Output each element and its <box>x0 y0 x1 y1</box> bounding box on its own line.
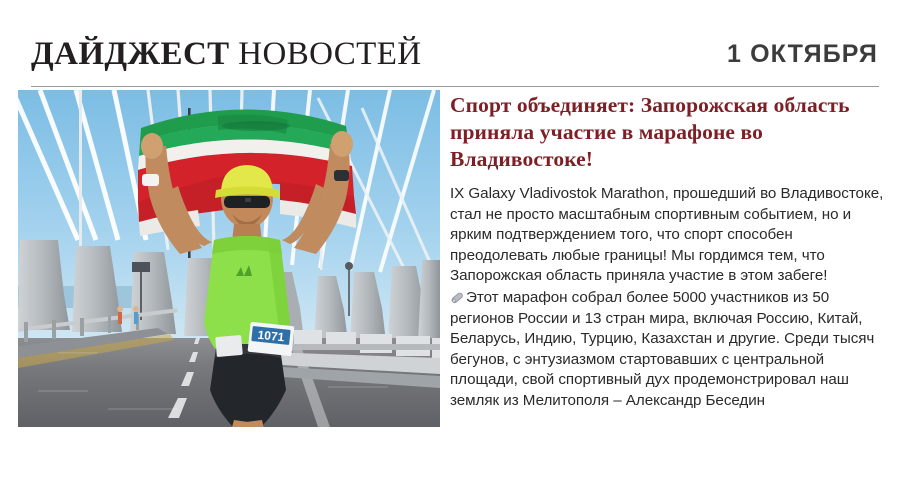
article-headline: Спорт объединяет: Запорожская область пр… <box>450 92 890 173</box>
news-digest-page: ДАЙДЖЕСТ НОВОСТЕЙ 1 ОКТЯБРЯ <box>0 0 905 502</box>
page-title: ДАЙДЖЕСТ НОВОСТЕЙ <box>31 34 422 74</box>
photo-illustration: 1071 <box>18 90 440 427</box>
article-paragraph-2-wrapper: Этот марафон собрал более 5000 участнико… <box>450 288 890 412</box>
svg-text:1071: 1071 <box>257 328 285 345</box>
pen-icon <box>450 290 465 303</box>
article-body: Спорт объединяет: Запорожская область пр… <box>450 92 890 412</box>
article-paragraph-1: IX Galaxy Vladivostok Marathon, прошедши… <box>450 184 890 287</box>
page-title-strong: ДАЙДЖЕСТ <box>31 36 230 72</box>
issue-date: 1 ОКТЯБРЯ <box>727 38 878 70</box>
masthead: ДАЙДЖЕСТ НОВОСТЕЙ 1 ОКТЯБРЯ <box>0 34 905 80</box>
article-paragraph-2: Этот марафон собрал более 5000 участнико… <box>450 289 874 409</box>
header-divider <box>31 86 879 87</box>
page-title-light: НОВОСТЕЙ <box>238 36 421 72</box>
article-photo: 1071 <box>18 90 440 427</box>
